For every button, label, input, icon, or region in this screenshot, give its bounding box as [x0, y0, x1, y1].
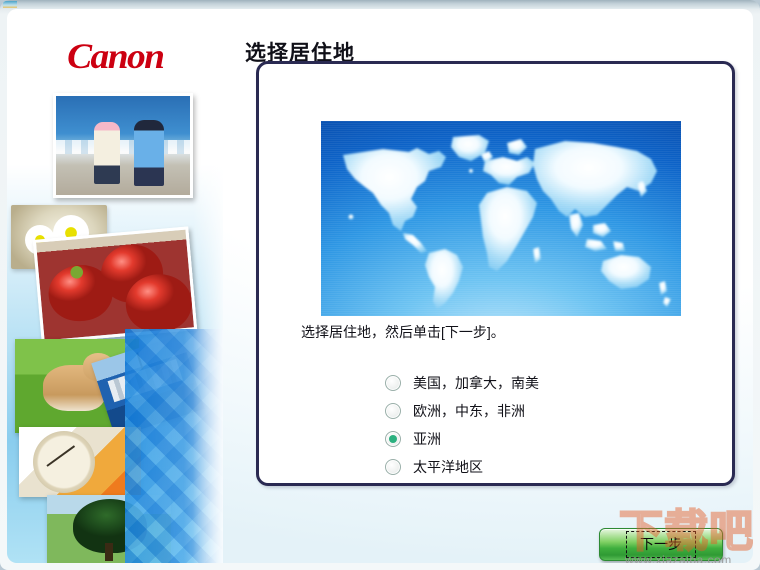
radio-label: 太平洋地区: [413, 457, 483, 477]
instruction-text: 选择居住地，然后单击[下一步]。: [301, 322, 505, 342]
photo-beach-kids: [53, 93, 193, 198]
radio-label: 亚洲: [413, 429, 441, 449]
radio-label: 美国，加拿大，南美: [413, 373, 539, 393]
photo-strawberries: [33, 226, 197, 343]
region-radio-group[interactable]: 美国，加拿大，南美 欧洲，中东，非洲 亚洲 太平洋地区: [385, 369, 539, 481]
photo-figure-right: [134, 120, 164, 186]
radio-label: 欧洲，中东，非洲: [413, 401, 525, 421]
next-button-label: 下一步: [640, 536, 682, 552]
map-scanline-overlay: [321, 121, 681, 316]
photo-tree-trunk: [105, 543, 113, 561]
world-map-image: [321, 121, 681, 316]
radio-circle-icon[interactable]: [385, 403, 401, 419]
photo-surf-line: [56, 140, 190, 154]
radio-option-asia[interactable]: 亚洲: [385, 425, 539, 453]
photo-berry-stem: [58, 262, 95, 283]
photo-clock: [19, 427, 141, 497]
application-window: Canon 选择居住地: [0, 0, 760, 570]
radio-option-europe-middleeast-africa[interactable]: 欧洲，中东，非洲: [385, 397, 539, 425]
collage-checker-fade: [125, 329, 223, 563]
photo-figure-left: [94, 122, 120, 184]
window-accent-marker: [3, 1, 17, 8]
radio-circle-icon[interactable]: [385, 375, 401, 391]
radio-option-pacific[interactable]: 太平洋地区: [385, 453, 539, 481]
installer-page: Canon 选择居住地: [7, 9, 753, 563]
radio-circle-selected-icon[interactable]: [385, 431, 401, 447]
radio-option-americas[interactable]: 美国，加拿大，南美: [385, 369, 539, 397]
photo-clock-face: [33, 431, 95, 493]
decorative-photo-collage: [7, 9, 223, 563]
next-button[interactable]: 下一步: [599, 528, 723, 561]
canon-logo: Canon: [67, 35, 163, 77]
content-panel: 选择居住地，然后单击[下一步]。 美国，加拿大，南美 欧洲，中东，非洲 亚洲 太…: [256, 61, 735, 486]
radio-circle-icon[interactable]: [385, 459, 401, 475]
next-button-focus-ring: 下一步: [626, 531, 696, 558]
window-title-bar: [0, 0, 760, 9]
